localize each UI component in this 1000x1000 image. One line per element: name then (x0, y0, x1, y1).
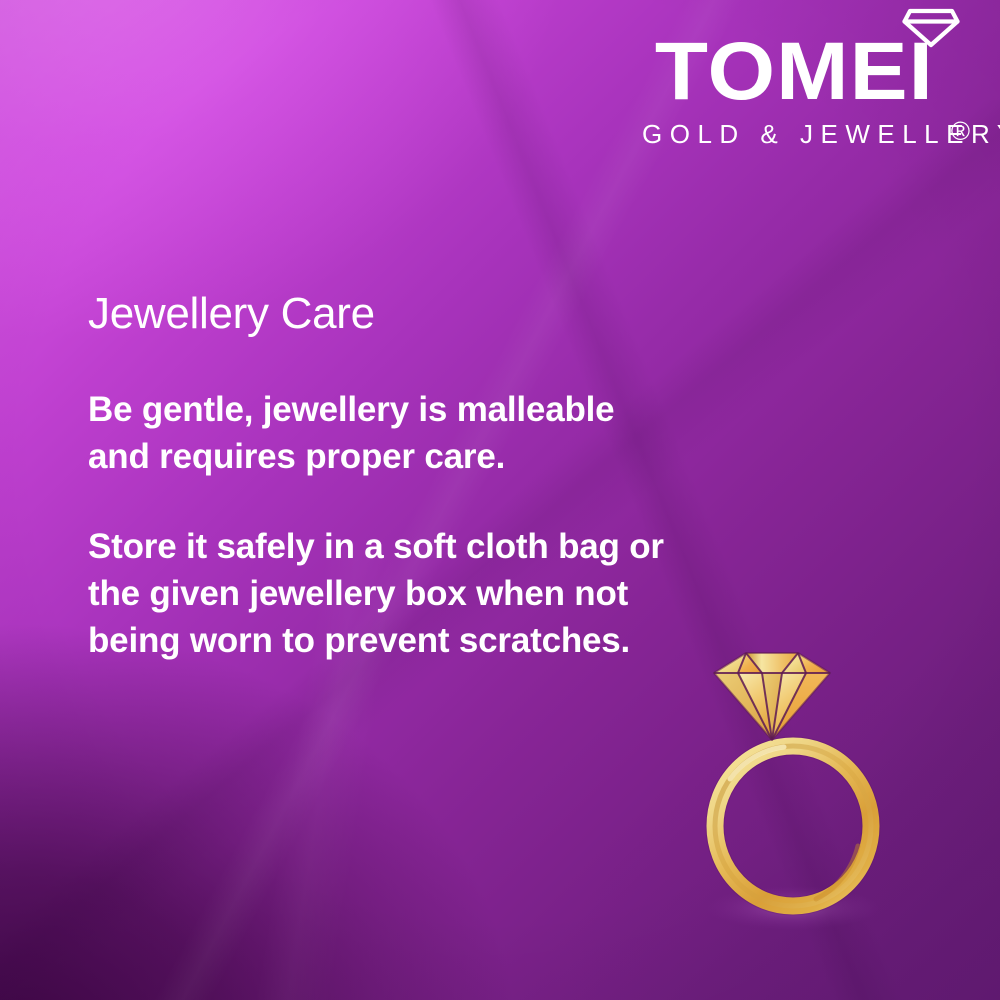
care-paragraph-1: Be gentle, jewellery is malleable and re… (88, 386, 668, 480)
copy-block: Jewellery Care Be gentle, jewellery is m… (88, 288, 668, 664)
diamond-ring-illustration (700, 640, 890, 930)
brand-tagline: GOLD & JEWELLERY (642, 119, 972, 150)
diamond-gem (714, 653, 830, 740)
care-paragraph-2: Store it safely in a soft cloth bag or t… (88, 523, 668, 664)
ring-band (715, 746, 871, 906)
registered-trademark-icon: ® (951, 118, 970, 144)
jewellery-care-card: TOMEI ® GOLD & JEWELLERY Jewellery Care … (0, 0, 1000, 1000)
page-title: Jewellery Care (88, 288, 668, 340)
brand-wordmark: TOMEI (622, 35, 972, 109)
brand-logo: TOMEI ® GOLD & JEWELLERY (642, 6, 972, 150)
